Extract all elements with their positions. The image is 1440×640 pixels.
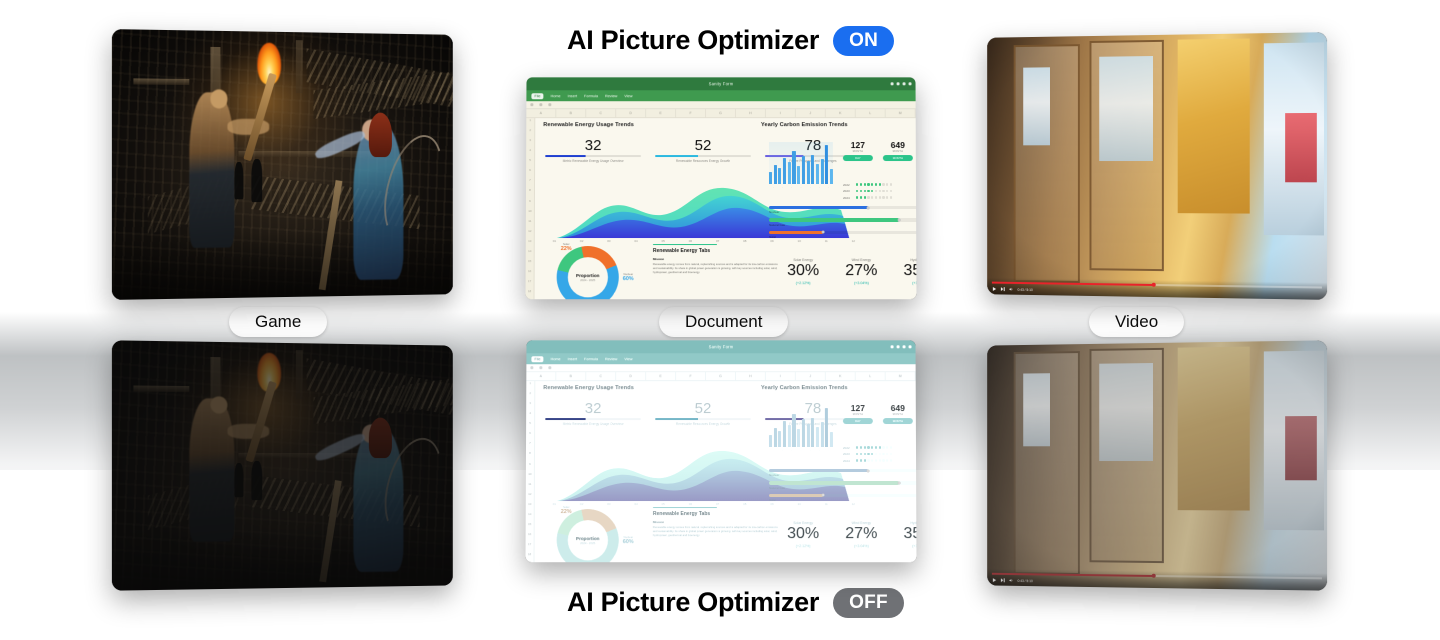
year-label: 2024 — [843, 195, 852, 199]
game-screen-on — [112, 29, 453, 300]
stat-label: MONTH — [883, 150, 913, 153]
play-icon[interactable] — [992, 286, 997, 291]
kpi-value: 32 — [545, 401, 641, 417]
slider-row-nuclear[interactable]: Nuclear 30% — [769, 469, 916, 477]
percent-value: 30% — [787, 525, 819, 543]
percent-delta: (+3.04%) — [845, 281, 877, 285]
kpi-label: Metric Renewable Energy Usage Overview — [545, 422, 641, 426]
row-header: 12 — [526, 229, 534, 239]
percent-stat: Wind Energy 27% (+3.04%) — [845, 258, 877, 285]
row-header: 6 — [526, 431, 534, 441]
game-character-enemy — [189, 92, 234, 248]
video-left-controls[interactable]: 0:43 / 5:10 — [992, 286, 1033, 292]
axis-tick: 07 — [716, 502, 719, 506]
stat-value: 127 — [843, 140, 873, 150]
document-screen-off: Sanity Form File Home Insert Formula Rev… — [525, 340, 916, 562]
ribbon-tab-insert[interactable]: Insert — [568, 94, 577, 98]
row-header: 11 — [526, 482, 534, 492]
ribbon-tab-file[interactable]: File — [531, 356, 543, 362]
emission-bar-chart: ······· — [769, 142, 833, 184]
column-header-row: A B C D E F G H I J K L M — [526, 372, 915, 381]
emission-bar-chart: ······· — [769, 405, 833, 447]
kpi-value: 52 — [655, 138, 751, 154]
slider-row-solar[interactable]: Solar 28% — [769, 231, 916, 239]
axis-tick: 10 — [797, 239, 800, 243]
video-progress-bar[interactable] — [992, 282, 1322, 289]
video-progress-handle — [1151, 283, 1155, 288]
percent-value: 35% — [903, 525, 916, 543]
axis-tick: 03 — [607, 502, 610, 506]
column-header[interactable]: D — [616, 109, 646, 117]
stat-value: 649 — [883, 140, 913, 150]
row-header: 16 — [526, 532, 534, 542]
ribbon-tab-formula[interactable]: Formula — [584, 94, 598, 98]
stat-chip[interactable]: DAY — [843, 418, 873, 424]
stat-value: 649 — [883, 403, 913, 413]
status-badge-off: OFF — [833, 588, 904, 618]
video-timestamp: 0:43 / 5:10 — [1018, 287, 1033, 291]
axis-tick: 05 — [662, 502, 665, 506]
ribbon-tab-review[interactable]: Review — [605, 94, 617, 98]
tabs-card-subtitle: Mission — [653, 257, 778, 261]
column-header[interactable]: E — [646, 109, 676, 117]
bar-chart — [769, 142, 833, 184]
column-header[interactable]: K — [826, 372, 856, 380]
left-panel-title: Renewable Energy Usage Trends — [543, 122, 634, 128]
row-header: 14 — [526, 512, 534, 522]
document-window-on: Sanity Form File Home Insert Formula Rev… — [525, 77, 916, 299]
slider-fill — [769, 481, 899, 484]
year-row: 2024 3,700 — [843, 458, 916, 462]
slider-fill — [769, 469, 868, 472]
ribbon-tab-file[interactable]: File — [531, 93, 543, 99]
row-header: 9 — [526, 461, 534, 471]
status-badge-on: ON — [833, 26, 894, 56]
row-header: 2 — [526, 128, 534, 138]
emission-stat: 127 MONTH DAY — [843, 140, 873, 161]
row-header: 16 — [526, 269, 534, 279]
video-progress-fill — [992, 282, 1154, 286]
renewable-energy-tabs-card: Renewable Energy Tabs Mission Renewable … — [653, 244, 778, 275]
donut-chart: Proportion 2024 - 2025 Solar 22% Nuclear… — [557, 246, 635, 299]
kpi-bar — [655, 155, 751, 158]
row-header: 3 — [526, 138, 534, 148]
emission-stats: 127 MONTH DAY 649 MONTH MONTH 1.2K MONTH… — [843, 140, 917, 161]
percent-stats: Solar Energy 30% (+2.12%) Wind Energy 27… — [787, 258, 916, 285]
donut-chart: Proportion 2024 - 2025 Solar 22% Nuclear… — [557, 509, 635, 562]
column-header[interactable]: J — [796, 372, 826, 380]
renewable-energy-tabs-card: Renewable Energy Tabs Mission Renewable … — [653, 507, 778, 538]
window-controls[interactable] — [891, 345, 912, 348]
emission-stat: 649 MONTH MONTH — [883, 140, 913, 161]
area-chart-axis: 01 02 03 04 05 06 07 08 09 10 11 12 — [549, 239, 859, 243]
axis-tick: 05 — [662, 239, 665, 243]
row-header: 1 — [526, 118, 534, 128]
headline-off-text: AI Picture Optimizer — [567, 587, 819, 618]
row-header: 14 — [526, 249, 534, 259]
row-header: 11 — [526, 219, 534, 229]
game-screen-off — [112, 340, 453, 590]
tabs-card-subtitle: Mission — [653, 520, 778, 524]
emission-stats: 127 MONTH DAY 649 MONTH MONTH 1.2K MONTH… — [843, 403, 917, 424]
axis-tick: 06 — [689, 502, 692, 506]
year-dots — [856, 453, 916, 455]
category-pill-video: Video — [1089, 307, 1184, 337]
row-header: 7 — [526, 441, 534, 451]
year-rows: 2022 1,200 2023 4,600 2024 3,700 — [843, 180, 917, 199]
ribbon-tab-view[interactable]: View — [624, 357, 632, 361]
stat-chip[interactable]: DAY — [843, 155, 873, 161]
axis-tick: 09 — [770, 502, 773, 506]
column-header[interactable]: F — [676, 109, 706, 117]
row-header: 7 — [526, 178, 534, 188]
donut-label-value: 60% — [623, 539, 634, 545]
formula-bar[interactable] — [526, 364, 915, 372]
ribbon-tab-insert[interactable]: Insert — [568, 357, 577, 361]
slider-knob[interactable] — [897, 482, 900, 485]
slider-row-nuclear[interactable]: Nuclear 30% — [769, 206, 916, 214]
category-pill-game: Game — [229, 307, 327, 337]
donut-label-nuclear: Nuclear 60% — [623, 272, 634, 282]
slider-fill — [769, 218, 899, 221]
kpi-bar — [545, 418, 641, 421]
percent-value: 27% — [845, 262, 877, 280]
stat-label: MONTH — [883, 413, 913, 416]
axis-tick: 10 — [797, 502, 800, 506]
headline-on-text: AI Picture Optimizer — [567, 25, 819, 56]
row-header: 15 — [526, 522, 534, 532]
formula-bar[interactable] — [526, 101, 915, 109]
video-screen-off: 0:43 / 5:10 — [987, 340, 1327, 590]
row-header: 10 — [526, 209, 534, 219]
ribbon-tab-home[interactable]: Home — [550, 94, 560, 98]
game-artwork-on — [112, 29, 453, 300]
row-header: 4 — [526, 148, 534, 158]
row-header: 17 — [526, 279, 534, 289]
donut-center: Proportion 2024 - 2025 — [557, 509, 619, 562]
percent-delta: (+2.12%) — [787, 281, 819, 285]
document-screen-on: Sanity Form File Home Insert Formula Rev… — [525, 77, 916, 299]
year-label: 2024 — [843, 458, 852, 462]
slider-knob[interactable] — [867, 469, 870, 472]
year-label: 2022 — [843, 183, 852, 187]
column-header[interactable]: B — [556, 109, 586, 117]
column-header[interactable]: G — [706, 372, 736, 380]
document-window-title: Sanity Form — [709, 81, 734, 86]
slider-row-natural-gas[interactable]: Natural Gas 62% — [769, 481, 916, 489]
row-header: 1 — [526, 381, 534, 391]
document-titlebar: Sanity Form — [526, 77, 915, 90]
percent-stats: Solar Energy 30% (+2.12%) Wind Energy 27… — [787, 521, 916, 548]
year-row: 2023 4,600 — [843, 189, 917, 193]
video-artwork-on: 0:43 / 5:10 — [987, 32, 1327, 300]
percent-stat: Solar Energy 30% (+2.12%) — [787, 258, 819, 285]
year-label: 2023 — [843, 452, 852, 456]
donut-center: Proportion 2024 - 2025 — [557, 246, 619, 299]
axis-tick: 08 — [743, 239, 746, 243]
percent-stat: Wind Energy 27% (+3.04%) — [845, 521, 877, 548]
kpi-label: Renewable Resources Energy Growth — [655, 159, 751, 163]
column-header[interactable]: K — [826, 109, 856, 117]
row-header: 2 — [526, 391, 534, 401]
row-header: 10 — [526, 472, 534, 482]
axis-tick: 11 — [825, 502, 828, 506]
year-dots — [856, 190, 916, 192]
axis-tick: 11 — [825, 239, 828, 243]
row-header: 15 — [526, 259, 534, 269]
stat-label: MONTH — [843, 150, 873, 153]
game-artwork-off — [112, 340, 453, 590]
donut-center-sub: 2024 - 2025 — [580, 278, 595, 282]
column-header[interactable]: C — [586, 372, 616, 380]
right-panel-title: Yearly Carbon Emission Trends — [761, 122, 848, 128]
slider-row-natural-gas[interactable]: Natural Gas 62% — [769, 218, 916, 226]
row-header: 18 — [525, 552, 533, 562]
video-progress-bar[interactable] — [992, 573, 1322, 579]
column-header[interactable]: M — [886, 109, 916, 117]
column-header[interactable]: J — [796, 109, 826, 117]
axis-tick: 04 — [634, 239, 637, 243]
kpi-card: 52 Renewable Resources Energy Growth — [655, 401, 751, 427]
percent-stat: Solar Energy 30% (+2.12%) — [787, 521, 819, 548]
row-header: 4 — [526, 411, 534, 421]
percent-value: 35% — [903, 262, 916, 280]
video-left-controls[interactable]: 0:43 / 5:10 — [992, 578, 1033, 584]
video-screen-on: 0:43 / 5:10 — [987, 32, 1327, 300]
column-header[interactable]: H — [736, 372, 766, 380]
document-titlebar: Sanity Form — [526, 340, 915, 353]
tab-underline — [653, 507, 717, 508]
year-row: 2022 1,200 — [843, 183, 917, 187]
video-progress-fill — [992, 573, 1154, 577]
slider-fill — [769, 206, 868, 209]
right-panel-title-wrap: Yearly Carbon Emission Trends — [761, 122, 848, 128]
axis-tick: 12 — [852, 502, 855, 506]
video-artwork-off: 0:43 / 5:10 — [987, 340, 1327, 590]
stat-value: 127 — [843, 403, 873, 413]
row-header: 5 — [526, 158, 534, 168]
slider-knob[interactable] — [822, 231, 825, 234]
axis-tick: 12 — [852, 239, 855, 243]
energy-sliders: Nuclear 30% Natural Gas 62% — [769, 465, 916, 502]
bar-chart-axis: ······· — [769, 448, 833, 452]
row-header: 12 — [526, 492, 534, 502]
slider-label: Solar — [769, 235, 776, 239]
column-header[interactable]: D — [616, 372, 646, 380]
axis-tick: 07 — [716, 239, 719, 243]
window-controls[interactable] — [891, 82, 912, 85]
row-header: 5 — [526, 421, 534, 431]
left-panel-title-wrap: Renewable Energy Usage Trends — [543, 122, 634, 128]
kpi-value: 32 — [545, 138, 641, 154]
column-header[interactable]: G — [706, 109, 736, 117]
percent-delta: (+2.12%) — [787, 544, 819, 548]
stat-label: MONTH — [843, 413, 873, 416]
year-row: 2022 1,200 — [843, 446, 917, 450]
column-header[interactable]: C — [586, 109, 616, 117]
slider-knob[interactable] — [867, 206, 870, 209]
slider-fill — [769, 494, 823, 497]
ribbon-tab-view[interactable]: View — [624, 94, 632, 98]
column-header[interactable]: I — [766, 372, 796, 380]
column-header[interactable]: M — [886, 372, 916, 380]
percent-value: 30% — [787, 262, 819, 280]
axis-tick: 02 — [580, 239, 583, 243]
axis-tick: 08 — [743, 502, 746, 506]
slider-label: Nuclear — [769, 210, 779, 214]
row-header: 13 — [526, 502, 534, 512]
row-header: 3 — [526, 401, 534, 411]
kpi-card: 52 Renewable Resources Energy Growth — [655, 138, 751, 164]
kpi-card: 32 Metric Renewable Energy Usage Overvie… — [545, 401, 641, 427]
video-progress-handle — [1151, 574, 1155, 579]
percent-delta: (+1.07%) — [903, 281, 916, 285]
headline-on: AI Picture Optimizer ON — [567, 25, 894, 56]
next-icon[interactable] — [1000, 287, 1005, 292]
year-dots — [856, 183, 917, 185]
column-header[interactable]: I — [766, 109, 796, 117]
tab-underline — [653, 244, 717, 245]
kpi-card: 32 Metric Renewable Energy Usage Overvie… — [545, 138, 641, 164]
year-label: 2023 — [843, 189, 852, 193]
tabs-card-title: Renewable Energy Tabs — [653, 511, 778, 517]
donut-center-sub: 2024 - 2025 — [580, 541, 595, 545]
row-header: 9 — [526, 198, 534, 208]
stat-chip[interactable]: MONTH — [883, 418, 913, 424]
emission-stat: 649 MONTH MONTH — [883, 403, 913, 424]
row-header: 6 — [526, 168, 534, 178]
axis-tick: 09 — [770, 239, 773, 243]
year-row: 2024 3,700 — [843, 195, 916, 199]
ribbon-tab-formula[interactable]: Formula — [584, 357, 598, 361]
tabs-card-title: Renewable Energy Tabs — [653, 248, 778, 254]
axis-tick: 04 — [634, 502, 637, 506]
slider-knob[interactable] — [897, 219, 900, 222]
column-header-row: A B C D E F G H I J K L M — [526, 109, 915, 118]
bar-chart-axis: ······· — [769, 185, 833, 189]
slider-label: Nuclear — [769, 473, 779, 477]
percent-delta: (+3.04%) — [845, 544, 877, 548]
tabs-card-body: Renewable energy comes from natural, rep… — [653, 526, 778, 538]
year-dots — [856, 459, 916, 461]
year-rows: 2022 1,200 2023 4,600 2024 3,700 — [843, 443, 917, 462]
year-dots — [856, 446, 917, 448]
year-row: 2023 4,600 — [843, 452, 917, 456]
axis-tick: 03 — [607, 239, 610, 243]
year-dots — [856, 196, 916, 198]
column-header[interactable]: E — [646, 372, 676, 380]
column-header[interactable]: B — [556, 372, 586, 380]
row-header: 17 — [526, 542, 534, 552]
volume-icon[interactable] — [1009, 578, 1014, 583]
headline-off: AI Picture Optimizer OFF — [567, 587, 904, 618]
video-timestamp: 0:43 / 5:10 — [1018, 579, 1033, 583]
slider-label: Natural Gas — [769, 486, 785, 490]
ribbon-tab-review[interactable]: Review — [605, 357, 617, 361]
row-header: 13 — [526, 239, 534, 249]
column-header[interactable]: H — [736, 109, 766, 117]
axis-tick: 01 — [553, 239, 556, 243]
slider-fill — [769, 231, 823, 234]
play-icon[interactable] — [992, 578, 997, 583]
column-header[interactable]: L — [856, 109, 886, 117]
document-ribbon[interactable]: File Home Insert Formula Review View — [526, 90, 915, 101]
column-header[interactable]: A — [526, 109, 556, 117]
left-panel-title-wrap: Renewable Energy Usage Trends — [543, 385, 634, 391]
percent-stat: Hydropower 35% (+1.07%) — [903, 521, 916, 548]
energy-sliders: Nuclear 30% Natural Gas 62% — [769, 202, 916, 239]
column-header[interactable]: L — [856, 372, 886, 380]
kpi-value: 52 — [655, 401, 751, 417]
donut-label-nuclear: Nuclear 60% — [623, 535, 634, 545]
kpi-bar — [545, 155, 641, 158]
bar-chart — [769, 405, 833, 447]
emission-stat: 127 MONTH DAY — [843, 403, 873, 424]
category-pill-document: Document — [659, 307, 788, 337]
stat-chip[interactable]: MONTH — [883, 155, 913, 161]
kpi-label: Renewable Resources Energy Growth — [655, 422, 751, 426]
axis-tick: 06 — [689, 239, 692, 243]
next-icon[interactable] — [1000, 578, 1005, 583]
right-panel-title: Yearly Carbon Emission Trends — [761, 385, 848, 391]
percent-delta: (+1.07%) — [903, 544, 916, 548]
slider-label: Natural Gas — [769, 223, 785, 227]
column-header[interactable]: A — [526, 372, 556, 380]
slider-row-solar[interactable]: Solar 28% — [769, 494, 916, 502]
row-header: 8 — [526, 451, 534, 461]
kpi-label: Metric Renewable Energy Usage Overview — [545, 159, 641, 163]
row-header: 8 — [526, 188, 534, 198]
left-panel-title: Renewable Energy Usage Trends — [543, 385, 634, 391]
axis-tick: 02 — [580, 502, 583, 506]
right-panel-title-wrap: Yearly Carbon Emission Trends — [761, 385, 848, 391]
ribbon-tab-home[interactable]: Home — [550, 357, 560, 361]
kpi-bar — [655, 418, 751, 421]
row-header: 18 — [525, 289, 533, 299]
document-ribbon[interactable]: File Home Insert Formula Review View — [526, 353, 915, 364]
document-window-title: Sanity Form — [709, 344, 734, 349]
slider-label: Solar — [769, 498, 776, 502]
percent-stat: Hydropower 35% (+1.07%) — [903, 258, 916, 285]
column-header[interactable]: F — [676, 372, 706, 380]
percent-value: 27% — [845, 525, 877, 543]
axis-tick: 01 — [553, 502, 556, 506]
slider-knob[interactable] — [822, 494, 825, 497]
document-window-off: Sanity Form File Home Insert Formula Rev… — [525, 340, 916, 562]
volume-icon[interactable] — [1009, 287, 1014, 292]
tabs-card-body: Renewable energy comes from natural, rep… — [653, 263, 778, 275]
donut-label-value: 60% — [623, 276, 634, 282]
area-chart-axis: 01 02 03 04 05 06 07 08 09 10 11 12 — [549, 502, 859, 506]
year-label: 2022 — [843, 446, 852, 450]
